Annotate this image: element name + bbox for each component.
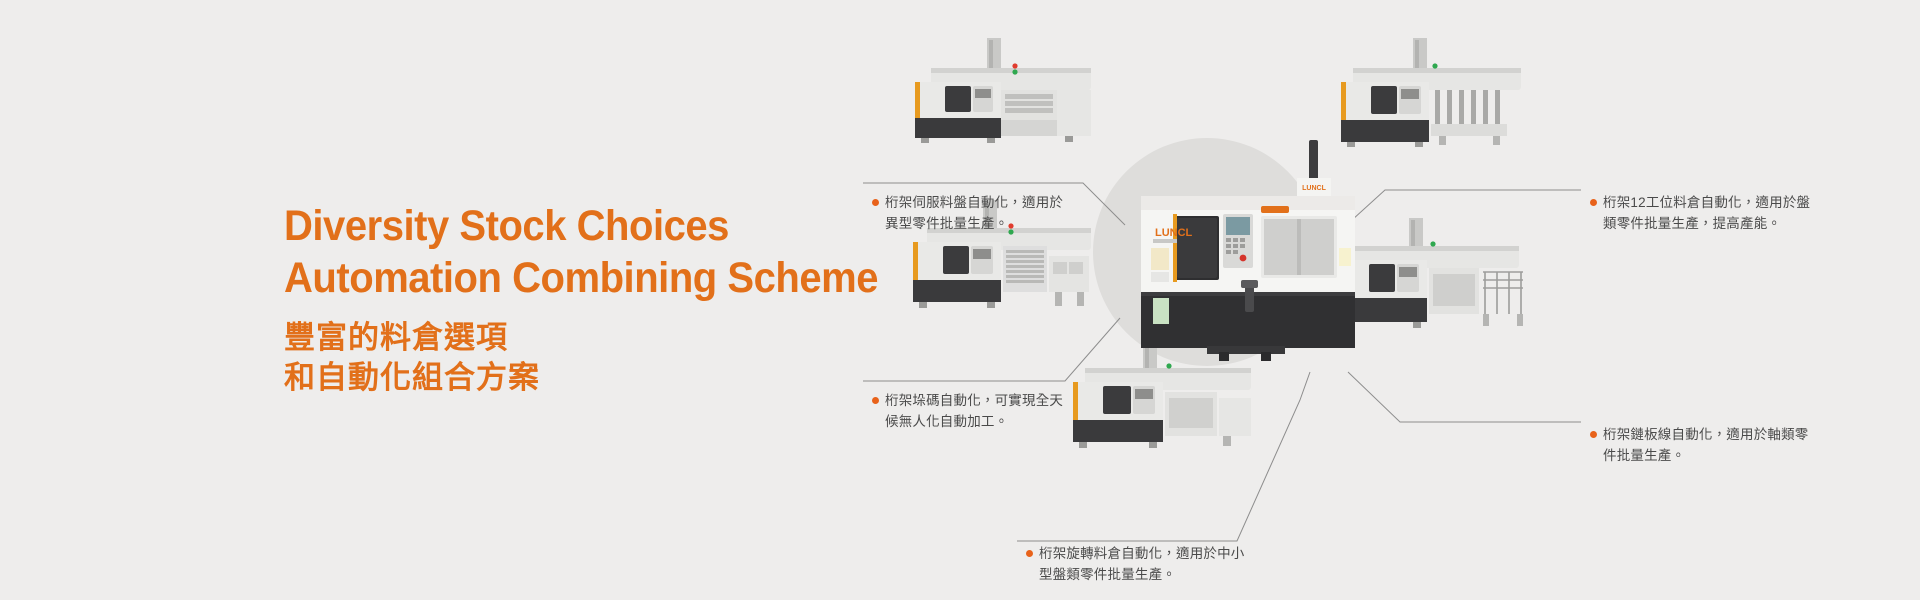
connector-chain-plate bbox=[1348, 372, 1581, 422]
callout-chain-plate: 桁架鏈板線自動化，適用於軸類零 件批量生產。 bbox=[1590, 424, 1809, 466]
center-top-brand: LUNCL bbox=[1302, 185, 1326, 192]
callout-chain-plate-line2: 件批量生產。 bbox=[1590, 445, 1809, 466]
center-brand: LUNCL bbox=[1155, 227, 1193, 239]
callout-servo-tray: 桁架伺服料盤自動化，適用於 異型零件批量生產。 bbox=[872, 192, 1063, 234]
callout-servo-tray-line1: 桁架伺服料盤自動化，適用於 bbox=[885, 195, 1063, 210]
callout-rotary-magazine: 桁架旋轉料倉自動化，適用於中小 型盤類零件批量生產。 bbox=[1026, 543, 1245, 585]
machine-chain-plate bbox=[1335, 218, 1535, 333]
callout-palletizing-line1: 桁架垛碼自動化，可實現全天 bbox=[885, 393, 1063, 408]
callout-palletizing: 桁架垛碼自動化，可實現全天 候無人化自動加工。 bbox=[872, 390, 1063, 432]
callout-bullet-icon bbox=[1590, 199, 1597, 206]
callout-rotary-magazine-line2: 型盤類零件批量生產。 bbox=[1026, 564, 1245, 585]
headline-chinese-line1: 豐富的料倉選項 bbox=[284, 318, 904, 358]
callout-twelve-station-line2: 類零件批量生產，提高產能。 bbox=[1590, 213, 1810, 234]
machine-twelve-station bbox=[1335, 38, 1535, 148]
headline-block: Diversity Stock Choices Automation Combi… bbox=[284, 200, 904, 398]
headline-english-line1: Diversity Stock Choices bbox=[284, 200, 861, 252]
product-banner: Diversity Stock Choices Automation Combi… bbox=[0, 0, 1920, 600]
callout-bullet-icon bbox=[1590, 431, 1597, 438]
callout-palletizing-line2: 候無人化自動加工。 bbox=[872, 411, 1063, 432]
callout-chain-plate-line1: 桁架鏈板線自動化，適用於軸類零 bbox=[1603, 427, 1809, 442]
callout-bullet-icon bbox=[872, 199, 879, 206]
machine-center-hero: LUNCL bbox=[1133, 140, 1363, 365]
headline-chinese-line2: 和自動化組合方案 bbox=[284, 358, 904, 398]
callout-twelve-station: 桁架12工位料倉自動化，適用於盤 類零件批量生產，提高產能。 bbox=[1590, 192, 1810, 234]
machine-servo-tray bbox=[905, 38, 1105, 143]
callout-bullet-icon bbox=[1026, 550, 1033, 557]
headline-english-line2: Automation Combining Scheme bbox=[284, 252, 861, 304]
callout-rotary-magazine-line1: 桁架旋轉料倉自動化，適用於中小 bbox=[1039, 546, 1245, 561]
callout-twelve-station-line1: 桁架12工位料倉自動化，適用於盤 bbox=[1603, 195, 1810, 210]
callout-bullet-icon bbox=[872, 397, 879, 404]
callout-servo-tray-line2: 異型零件批量生產。 bbox=[872, 213, 1063, 234]
